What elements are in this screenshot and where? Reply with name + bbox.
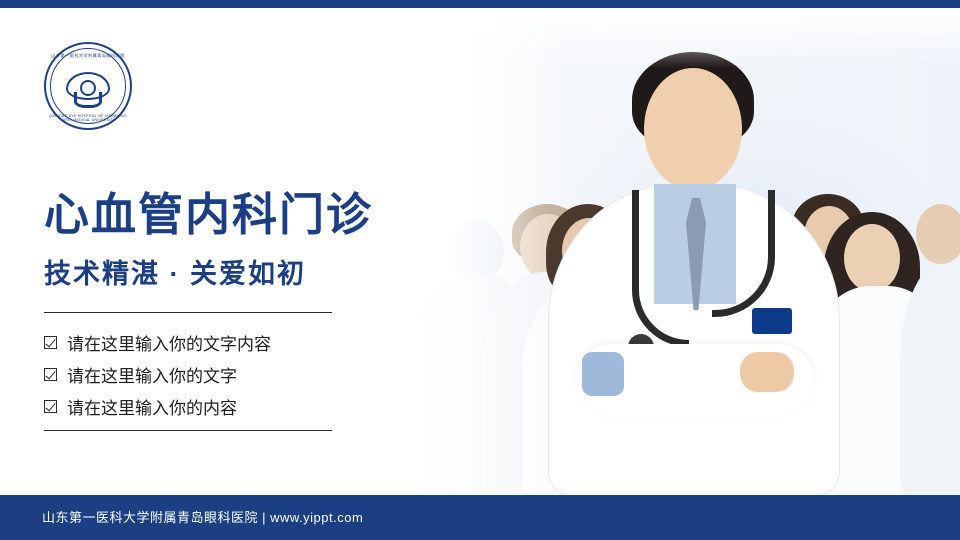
- hand-icon: [74, 92, 102, 108]
- photo-left-fade-mask: [400, 8, 550, 495]
- staff-head-right-b: [844, 224, 900, 292]
- page-subtitle: 技术精湛 · 关爱如初: [44, 252, 306, 291]
- list-item: 请在这里输入你的文字: [44, 358, 384, 390]
- divider-bottom: [44, 430, 332, 431]
- list-item: 请在这里输入你的文字内容: [44, 326, 384, 358]
- page-title: 心血管内科门诊: [44, 178, 373, 243]
- doctor-id-badge: [752, 308, 792, 334]
- list-item-label: 请在这里输入你的文字内容: [67, 330, 271, 355]
- checkbox-icon: [44, 400, 57, 413]
- doctor-cuff: [582, 352, 624, 396]
- footer-text: 山东第一医科大学附属青岛眼科医院 | www.yippt.com: [42, 507, 363, 526]
- photo-top-fade-mask: [400, 8, 960, 68]
- doctor-hand: [740, 352, 794, 392]
- checkbox-icon: [44, 336, 57, 349]
- footer-bar: 山东第一医科大学附属青岛眼科医院 | www.yippt.com: [0, 495, 960, 540]
- slide-canvas: 山东第一医科大学附属青岛眼科医院 QINGDAO EYE HOSPITAL OF…: [0, 0, 960, 540]
- hero-photo: [400, 8, 960, 495]
- list-item-label: 请在这里输入你的内容: [67, 394, 237, 419]
- staff-head-far-right: [916, 204, 960, 264]
- hospital-logo: 山东第一医科大学附属青岛眼科医院 QINGDAO EYE HOSPITAL OF…: [44, 42, 136, 134]
- doctor-head: [644, 68, 742, 190]
- top-accent-bar: [0, 0, 960, 8]
- checkbox-icon: [44, 368, 57, 381]
- divider-top: [44, 312, 332, 313]
- logo-arc-text-top: 山东第一医科大学附属青岛眼科医院: [44, 53, 132, 59]
- bullet-list: 请在这里输入你的文字内容 请在这里输入你的文字 请在这里输入你的内容: [44, 326, 384, 422]
- logo-arc-text-bottom: QINGDAO EYE HOSPITAL OF SHANDONG FIRST M…: [44, 114, 132, 122]
- list-item: 请在这里输入你的内容: [44, 390, 384, 422]
- list-item-label: 请在这里输入你的文字: [67, 362, 237, 387]
